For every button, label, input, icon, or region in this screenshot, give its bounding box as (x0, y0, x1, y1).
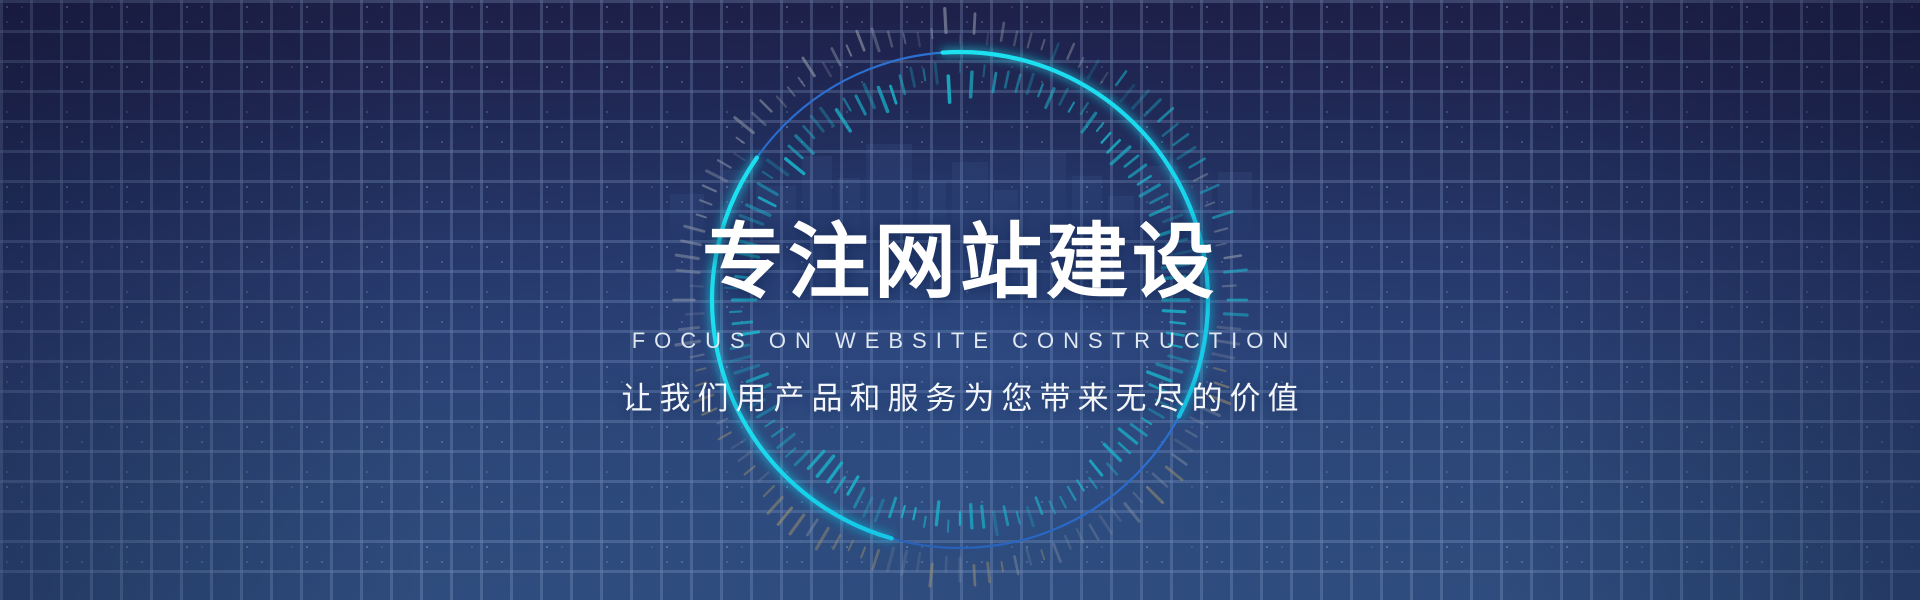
dial-tick-inner (1129, 165, 1145, 177)
dial-tick-inner (1150, 384, 1167, 392)
dial-tick-outer (696, 382, 706, 385)
dial-tick-inner (984, 65, 985, 76)
dial-tick-inner (1004, 507, 1008, 525)
dial-tick-inner (878, 88, 887, 112)
dial-tick-outer (682, 241, 701, 245)
dial-tick-outer (735, 118, 753, 133)
dial-tick-inner (1082, 113, 1096, 132)
dial-tick-inner (1169, 344, 1182, 347)
dial-tick-inner (856, 96, 865, 114)
dial-tick-inner (993, 73, 996, 92)
dial-tick-inner (1164, 215, 1182, 222)
dial-tick-inner (821, 108, 834, 125)
dial-tick-inner (848, 477, 858, 494)
dial-tick-inner (759, 198, 775, 206)
dial-tick-inner (1102, 133, 1111, 143)
dial-tick-outer (745, 466, 755, 474)
dial-arc-cyan-bottom (712, 158, 892, 539)
dial-tick-outer (1100, 516, 1111, 533)
dial-ticks-inner (725, 62, 1194, 534)
dial-tick-inner (778, 434, 794, 447)
skyline-block (838, 178, 860, 240)
dial-tick-outer (1125, 504, 1139, 521)
dial-tick-outer (807, 520, 817, 535)
dial-tick-inner (733, 322, 752, 324)
dial-circle-outline (712, 52, 1208, 548)
dial-tick-inner (1149, 409, 1163, 417)
dial-tick-outer (1206, 202, 1215, 205)
dial-tick-inner (864, 84, 874, 107)
dial-tick-outer (1218, 341, 1239, 344)
dial-tick-outer (1121, 85, 1134, 101)
dial-tick-outer (788, 87, 795, 95)
dial-tick-inner (725, 288, 737, 289)
dial-tick-outer (1190, 159, 1205, 168)
dial-tick-inner (789, 146, 802, 158)
dial-tick-inner (1119, 429, 1137, 443)
dial-tick-inner (982, 506, 984, 527)
dial-tick-inner (786, 159, 804, 174)
dial-tick-outer (1209, 396, 1230, 404)
dial-tick-outer (676, 341, 700, 345)
dial-tick-inner (740, 241, 761, 247)
dial-tick-inner (1119, 443, 1130, 453)
dial-tick-inner (737, 253, 759, 258)
dial-tick-inner (811, 116, 823, 131)
skyline-block (802, 156, 832, 240)
dial-tick-inner (923, 69, 925, 80)
dial-tick-outer (1116, 71, 1126, 84)
dial-tick-inner (1104, 444, 1120, 460)
dial-tick-outer (1200, 407, 1220, 416)
dial-tick-inner (890, 86, 896, 103)
dial-tick-inner (1154, 230, 1177, 237)
dial-tick-outer (768, 497, 782, 513)
dial-tick-outer (1214, 368, 1226, 371)
dial-tick-inner (796, 136, 813, 153)
dial-tick-inner (1077, 481, 1083, 491)
dial-tick-inner (911, 68, 915, 86)
dial-tick-outer (1201, 185, 1218, 193)
dial-tick-outer (902, 551, 907, 574)
dial-tick-inner (1060, 89, 1068, 104)
skyline-block (1024, 152, 1066, 240)
dial-tick-inner (748, 385, 770, 395)
dial-tick-outer (736, 138, 743, 143)
dial-tick-inner (1005, 72, 1008, 88)
dial-tick-outer (1213, 212, 1232, 218)
background-dot-grid-scatter (0, 0, 1920, 600)
dial-tick-inner (902, 506, 905, 517)
dial-tick-inner (817, 456, 833, 476)
dial-tick-inner (1097, 123, 1103, 131)
dial-tick-outer (1186, 430, 1197, 436)
dial-tick-inner (864, 498, 872, 516)
dial-tick-inner (1156, 400, 1168, 406)
dial-tick-inner (1163, 311, 1185, 312)
dial-tick-outer (1065, 536, 1071, 549)
dial-tick-inner (1017, 512, 1020, 524)
dial-tick-outer (1133, 91, 1149, 108)
dial-tick-inner (1111, 147, 1129, 164)
dial-tick-outer (691, 286, 703, 287)
dial-tick-inner (1140, 185, 1159, 196)
dial-tick-outer (833, 535, 840, 548)
dial-tick-outer (778, 508, 791, 524)
dial-tick-outer (1101, 73, 1108, 84)
skyline-block (918, 182, 946, 240)
dial-tick-inner (730, 311, 741, 312)
skyline-block (1140, 166, 1178, 240)
skyline-block (722, 170, 748, 240)
dial-tick-inner (772, 429, 782, 437)
dial-tick-inner (731, 345, 749, 349)
dial-tick-outer (1134, 493, 1142, 502)
dial-tick-outer (1088, 61, 1098, 78)
dial-tick-inner (786, 448, 795, 456)
dial-tick-inner (1090, 461, 1101, 475)
dial-tick-outer (1054, 544, 1061, 562)
dial-tick-outer (697, 214, 706, 217)
dial-tick-outer (1090, 525, 1098, 540)
dial-tick-outer (764, 486, 774, 496)
dial-tick-outer (718, 419, 728, 424)
dial-tick-outer (888, 32, 892, 47)
dial-tick-outer (1148, 488, 1163, 503)
dial-tick-inner (1175, 288, 1194, 289)
dial-tick-outer (734, 153, 744, 160)
dial-tick-outer (988, 563, 990, 582)
dial-tick-inner (1161, 276, 1184, 278)
dial-tick-outer (732, 440, 745, 448)
background-dot-grid (0, 0, 1920, 600)
skyline-block (756, 186, 796, 240)
dial-tick-inner (737, 265, 759, 268)
dial-tick-outer (691, 355, 704, 358)
dial-tick-inner (900, 76, 905, 94)
dial-tick-outer (1067, 44, 1074, 59)
dial-tick-outer (1041, 550, 1044, 559)
dial-tick-inner (736, 276, 754, 278)
dial-arc-cyan-right (943, 52, 1208, 416)
dial-tick-outer (739, 452, 751, 461)
dial-tick-inner (758, 406, 777, 417)
dial-tick-inner (948, 76, 949, 102)
dial-tick-outer (1001, 23, 1004, 41)
dial-tick-outer (974, 14, 975, 34)
background-vignette (0, 0, 1920, 600)
skyline-block (1108, 196, 1134, 240)
skyline-block (670, 194, 704, 240)
dial-tick-inner (1060, 497, 1065, 508)
skyline-block (952, 162, 988, 240)
dial-tick-outer (847, 45, 852, 55)
dial-tick-outer (1215, 228, 1227, 231)
dial-tick-inner (1175, 251, 1193, 255)
dial-tick-inner (1169, 356, 1188, 361)
dial-tick-inner (795, 451, 809, 465)
dial-tick-outer (1166, 467, 1182, 480)
dial-tick-inner (890, 498, 896, 517)
dial-tick-inner (1081, 103, 1088, 114)
dial-tick-inner (1150, 207, 1169, 215)
dial-tick-outer (1014, 31, 1017, 45)
dial-tick-inner (835, 477, 845, 492)
dial-tick-inner (844, 99, 851, 111)
dial-tick-inner (768, 160, 788, 175)
dial-tick-outer (685, 226, 704, 231)
dial-tick-outer (849, 541, 853, 551)
dial-tick-outer (1015, 557, 1019, 574)
dial-tick-outer (1224, 314, 1247, 315)
dial-tick-outer (1213, 354, 1234, 358)
dial-tick-inner (747, 205, 770, 215)
dial-tick-outer (861, 547, 865, 557)
dial-tick-outer (719, 432, 731, 439)
dial-tick-outer (694, 395, 713, 402)
dial-tick-inner (935, 64, 937, 83)
dial-tick-inner (739, 332, 759, 335)
dial-tick-outer (707, 171, 727, 181)
dial-tick-outer (1041, 40, 1044, 50)
dial-tick-outer (777, 97, 786, 107)
dial-tick-outer (887, 548, 893, 571)
dial-tick-outer (1145, 100, 1161, 116)
skyline-block (1218, 172, 1252, 240)
dial-tick-inner (747, 374, 767, 382)
dial-tick-outer (718, 160, 731, 167)
dial-tick-outer (1191, 417, 1203, 423)
dial-tick-inner (1151, 194, 1168, 203)
dial-tick-outer (1027, 549, 1031, 565)
skyline-block (1184, 184, 1212, 240)
dial-tick-inner (1148, 372, 1171, 381)
dial-tick-outer (1175, 440, 1192, 451)
dial-tick-inner (1027, 75, 1033, 94)
dial-tick-inner (1167, 333, 1183, 336)
dial-tick-inner (765, 421, 774, 427)
dial-tick-inner (763, 172, 772, 178)
dial-tick-inner (804, 126, 814, 138)
dial-tick-outer (1028, 34, 1032, 48)
dial-tick-outer (1153, 474, 1167, 487)
dial-tick-inner (808, 451, 823, 468)
skyline-block (1072, 176, 1102, 240)
dial-tick-inner (913, 508, 915, 519)
dial-tick-outer (803, 58, 814, 76)
dial-tick-outer (760, 100, 771, 111)
dial-tick-inner (875, 500, 883, 521)
page-title: 专注网站建设 (0, 222, 1920, 304)
dial-tick-outer (1216, 244, 1225, 246)
dial-tick-outer (703, 186, 716, 192)
dial-tick-outer (946, 557, 947, 572)
dial-tick-outer (700, 200, 711, 204)
dial-tick-inner (1125, 156, 1138, 167)
dial-tick-inner (971, 72, 972, 97)
dial-tick-outer (917, 553, 920, 571)
dial-tick-inner (1157, 364, 1181, 372)
dial-tick-outer (696, 368, 705, 370)
dial-tick-outer (974, 566, 975, 586)
dial-tick-outer (832, 48, 840, 65)
dial-tick-outer (1002, 562, 1004, 572)
dial-ticks-outer (674, 9, 1247, 587)
dial-tick-outer (679, 327, 698, 329)
dial-tick-outer (1052, 44, 1058, 59)
skyline-silhouette (660, 120, 1260, 240)
dial-tick-outer (930, 564, 932, 586)
dial-tick-outer (759, 473, 769, 482)
dial-tick-inner (936, 502, 938, 525)
dial-tick-outer (903, 33, 905, 43)
dial-tick-inner (1046, 89, 1054, 108)
dial-tick-inner (1131, 424, 1146, 435)
hero-banner: 专注网站建设 FOCUS ON WEBSITE CONSTRUCTION 让我们… (0, 0, 1920, 600)
dial-tick-inner (1089, 478, 1096, 488)
dial-tick-inner (948, 520, 949, 531)
dial-tick-inner (734, 227, 758, 235)
dial-tick-inner (971, 505, 972, 528)
dial-tick-inner (1069, 103, 1074, 112)
dial-tick-outer (1215, 383, 1229, 387)
dial-tick-inner (1138, 176, 1151, 184)
dial-tick-outer (1077, 529, 1084, 542)
dial-tick-outer (816, 528, 828, 549)
dial-tick-inner (1038, 84, 1043, 96)
dial-tick-outer (702, 409, 716, 415)
dial-tick-outer (1225, 256, 1241, 259)
skyline-block (994, 190, 1018, 240)
dial-tick-inner (1107, 464, 1117, 475)
dial-tick-outer (857, 31, 864, 50)
dial-tick-outer (872, 29, 879, 51)
skyline-block (866, 144, 912, 240)
dial-tick-outer (1178, 147, 1195, 158)
dial-tick-inner (828, 463, 842, 482)
dial-tick-inner (1142, 418, 1151, 424)
dial-tick-outer (1172, 454, 1186, 464)
dial-tick-outer (1159, 108, 1173, 121)
dial-tick-inner (1163, 264, 1189, 268)
dial-tick-outer (1079, 58, 1084, 67)
dial-tick-inner (735, 365, 758, 373)
dial-tick-inner (1050, 501, 1055, 513)
dial-tick-outer (1223, 286, 1236, 287)
dial-tick-inner (750, 400, 765, 408)
dial-tick-inner (1108, 140, 1120, 152)
dial-tick-outer (1194, 174, 1207, 181)
dial-tick-inner (1170, 322, 1184, 324)
dial-tick-inner (924, 517, 926, 527)
dial-tick-inner (731, 356, 750, 361)
dial-tick-inner (1167, 239, 1187, 244)
dial-tick-outer (798, 78, 804, 86)
dial-tick-inner (758, 184, 777, 195)
dial-tick-outer (752, 113, 765, 125)
dial-tick-outer (676, 255, 698, 258)
dial-tick-outer (987, 34, 988, 45)
dial-tick-outer (790, 515, 804, 534)
dial-tick-inner (837, 110, 851, 131)
dial-tick-outer (1218, 327, 1240, 329)
dial-tick-outer (1225, 270, 1247, 272)
dial-tick-outer (1163, 124, 1177, 136)
subtitle-english: FOCUS ON WEBSITE CONSTRUCTION (0, 330, 1920, 352)
dial-tick-outer (823, 63, 831, 76)
dial-tick-outer (677, 270, 699, 272)
tagline-chinese: 让我们用产品和服务为您带来无尽的价值 (0, 383, 1920, 414)
dial-tick-inner (1036, 498, 1042, 514)
dial-tick-outer (873, 550, 879, 569)
dial-tick-outer (686, 313, 703, 314)
dial-tick-outer (1173, 134, 1188, 145)
dial-tick-inner (740, 216, 762, 224)
dial-tick-inner (1016, 75, 1020, 92)
dial-tick-inner (1027, 507, 1033, 526)
dial-tick-inner (855, 489, 864, 507)
dial-tick-outer (918, 33, 920, 46)
dial-tick-outer (1111, 508, 1120, 520)
dial-tick-inner (1068, 487, 1075, 500)
dial-tick-outer (932, 29, 933, 38)
dial-tick-inner (994, 512, 998, 534)
dial-tick-outer (945, 9, 946, 33)
